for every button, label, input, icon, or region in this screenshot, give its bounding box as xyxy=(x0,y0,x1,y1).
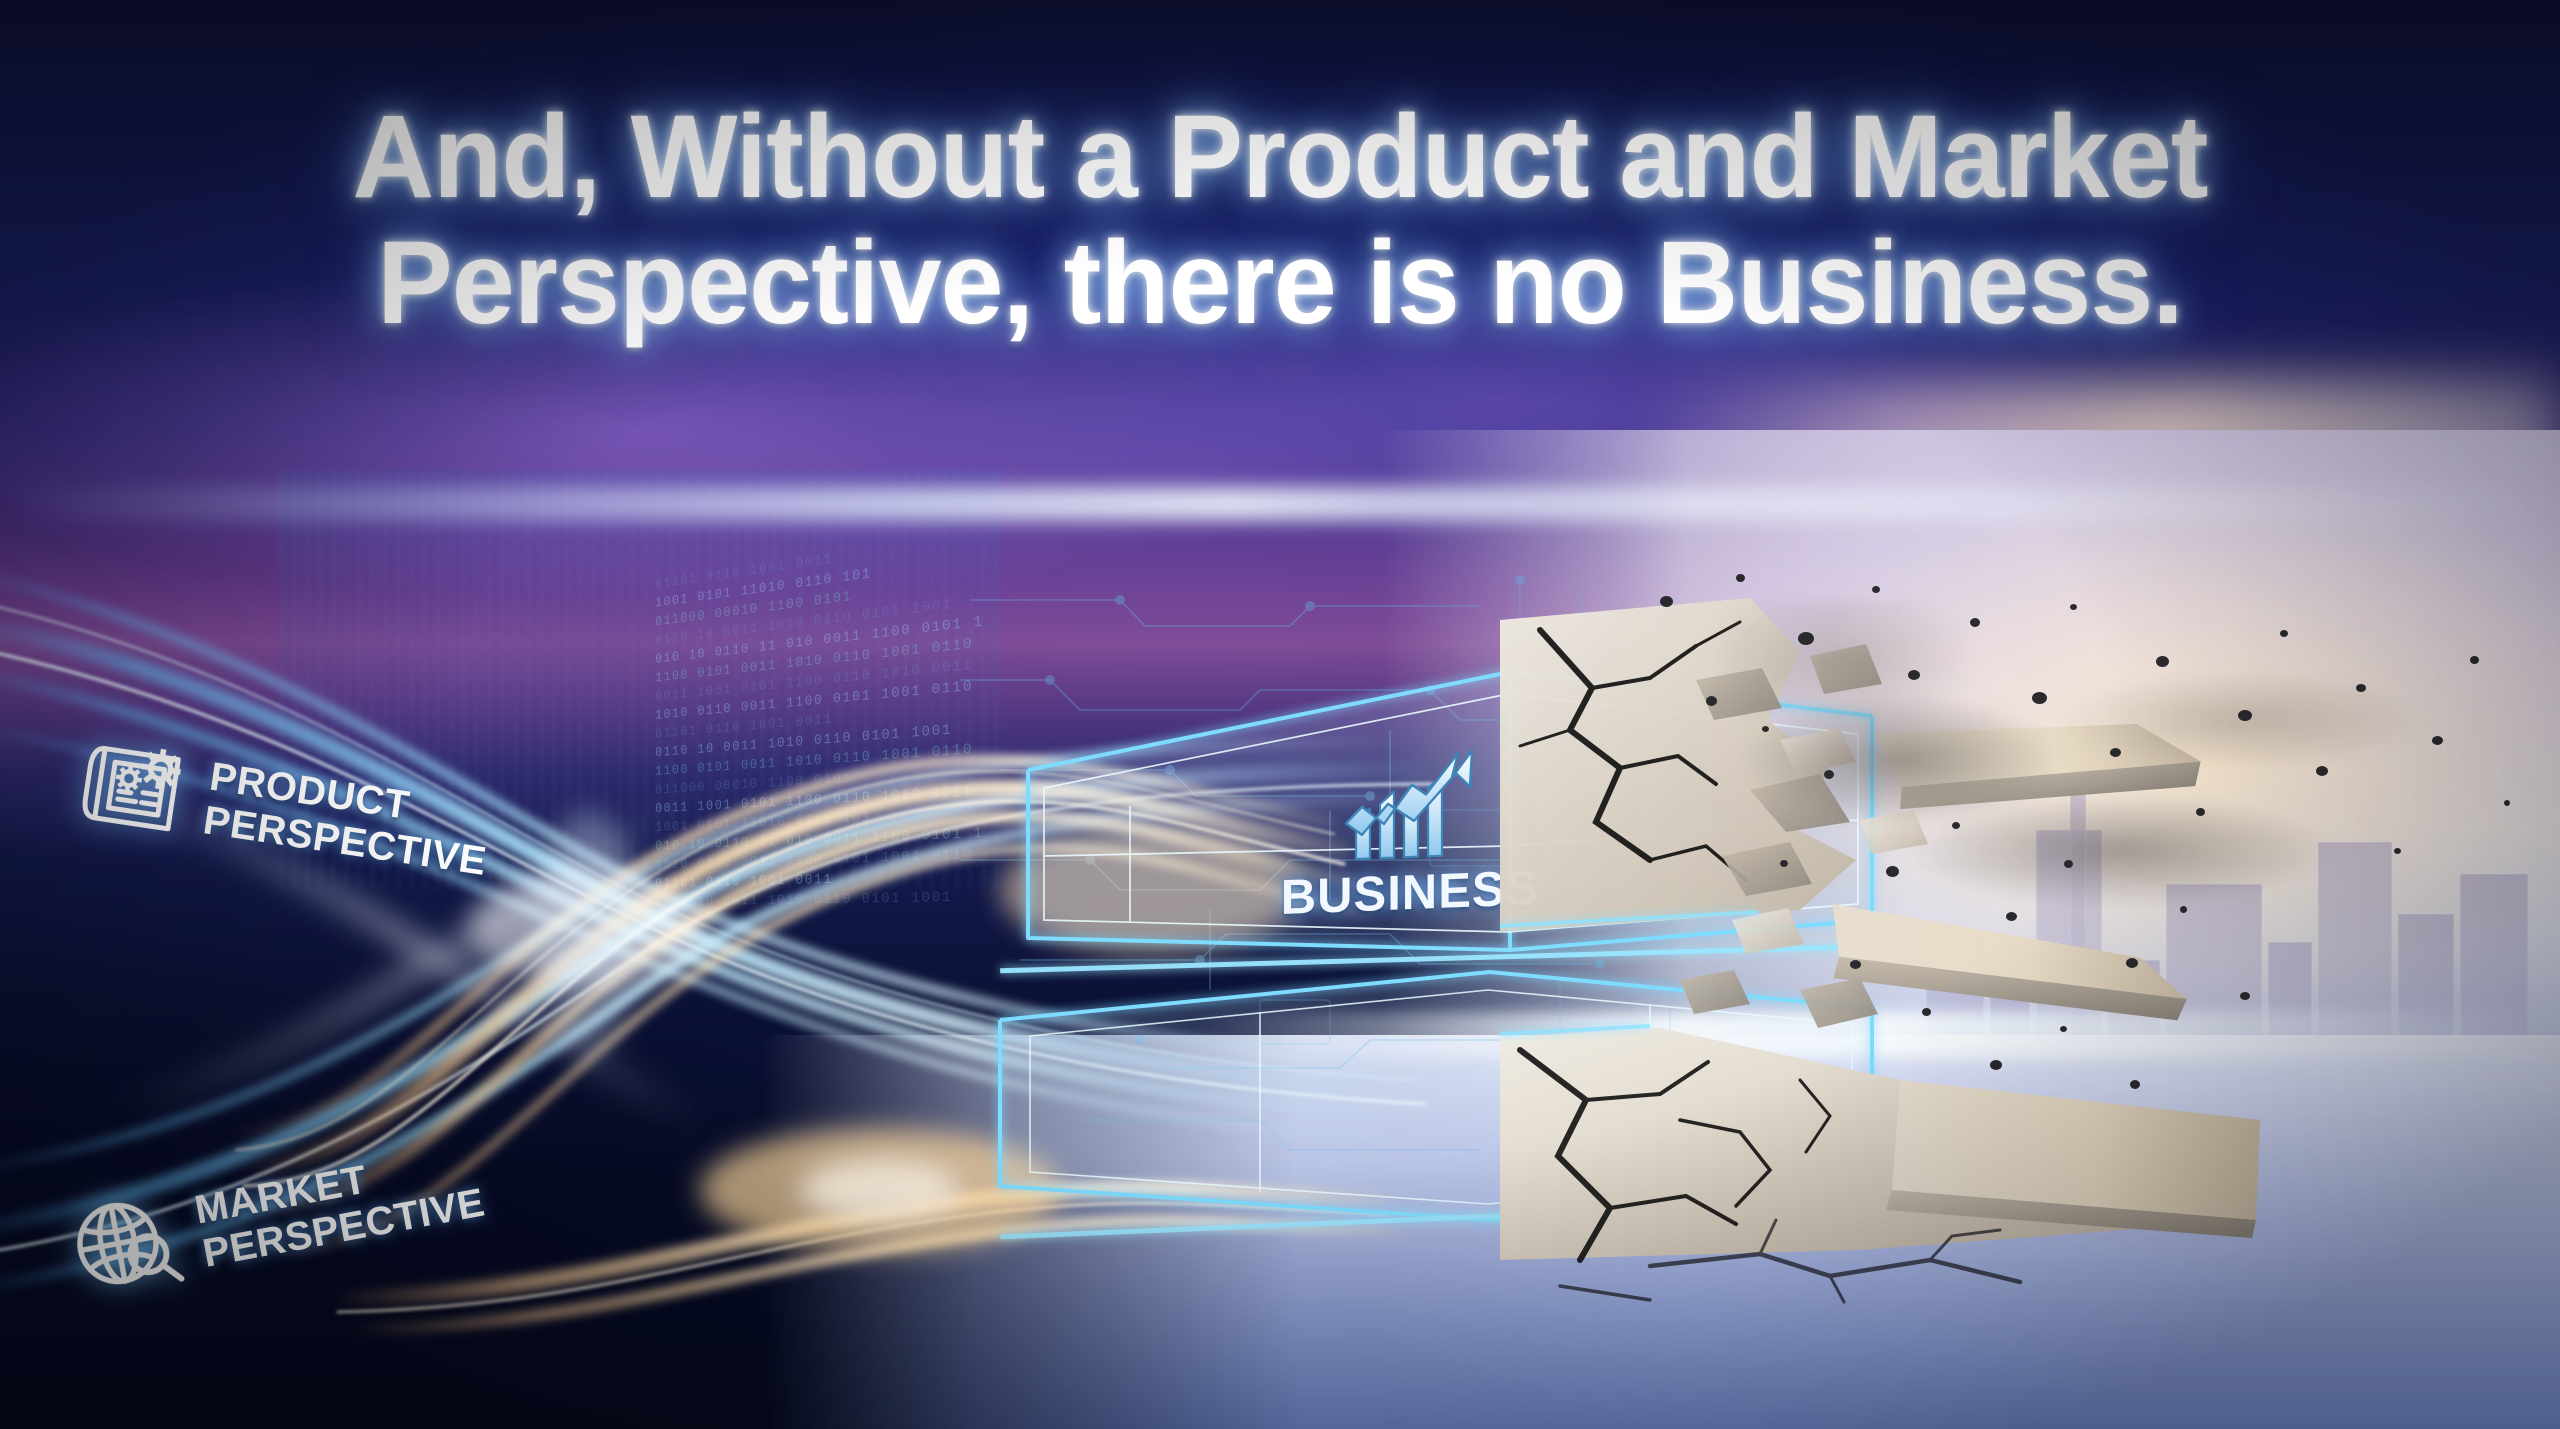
title-line-1: And, Without a Product and Market xyxy=(51,94,2509,220)
banner-canvas: 01101 0110 1001 0011 1001 0101 11010 011… xyxy=(0,0,2560,1429)
title-line-2: Perspective, there is no Business. xyxy=(51,220,2509,346)
debris-particles xyxy=(1640,560,2560,1180)
page-title: And, Without a Product and Market Perspe… xyxy=(0,94,2560,346)
globe-magnifier-icon xyxy=(66,1187,190,1305)
growth-chart-arrow-icon xyxy=(1340,742,1480,865)
blueprint-gear-icon xyxy=(75,732,196,843)
